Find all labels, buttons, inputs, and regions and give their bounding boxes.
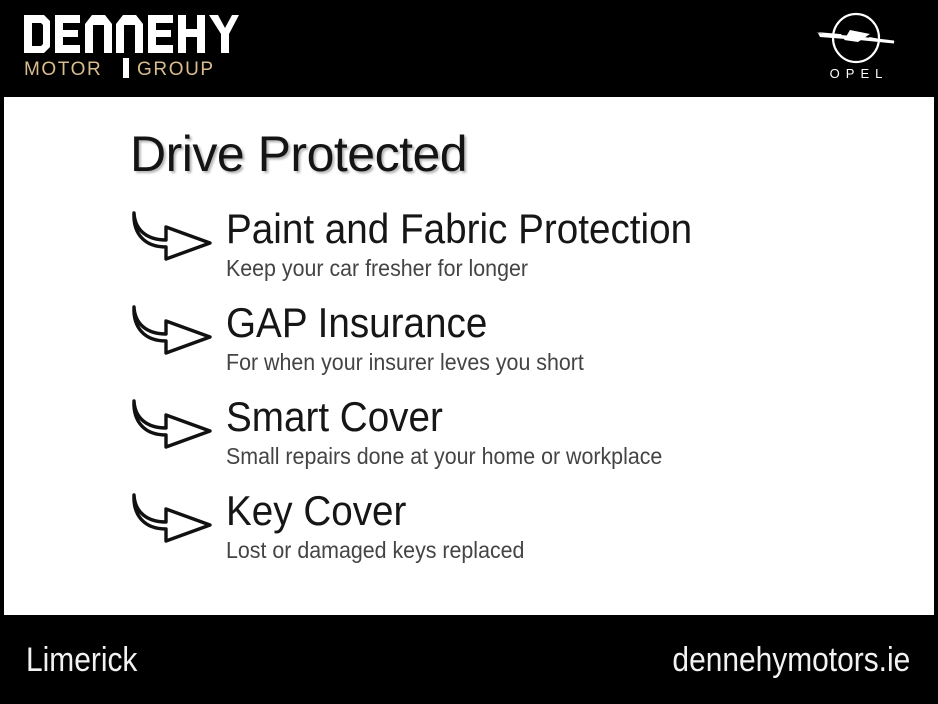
feature-subtitle: Lost or damaged keys replaced xyxy=(226,537,868,564)
motor-group-subline: MOTOR GROUP xyxy=(24,56,239,80)
feature-text-block: Key Cover Lost or damaged keys replaced xyxy=(226,487,916,564)
feature-title: Key Cover xyxy=(226,487,861,535)
feature-title: Paint and Fabric Protection xyxy=(226,205,861,253)
page-title: Drive Protected xyxy=(130,125,467,183)
feature-title: GAP Insurance xyxy=(226,299,861,347)
opel-blitz-icon xyxy=(808,12,904,64)
feature-title: Smart Cover xyxy=(226,393,861,441)
list-item: Key Cover Lost or damaged keys replaced xyxy=(130,487,920,581)
subline-motor-text: MOTOR xyxy=(24,59,102,80)
feature-list: Paint and Fabric Protection Keep your ca… xyxy=(130,205,920,581)
subline-group-text: GROUP xyxy=(137,59,215,80)
feature-subtitle: Keep your car fresher for longer xyxy=(226,255,868,282)
opel-logo: OPEL xyxy=(808,12,904,81)
list-item: Paint and Fabric Protection Keep your ca… xyxy=(130,205,920,299)
header-bar: MOTOR GROUP OPEL xyxy=(0,0,938,96)
footer-website[interactable]: dennehymotors.ie xyxy=(672,641,910,679)
subline-divider xyxy=(123,58,129,78)
curved-arrow-icon xyxy=(130,209,216,265)
curved-arrow-icon xyxy=(130,491,216,547)
content-panel: Drive Protected Paint and Fabric Protect… xyxy=(4,97,934,615)
feature-subtitle: For when your insurer leves you short xyxy=(226,349,868,376)
feature-text-block: Smart Cover Small repairs done at your h… xyxy=(226,393,916,470)
list-item: Smart Cover Small repairs done at your h… xyxy=(130,393,920,487)
opel-wordmark: OPEL xyxy=(808,66,904,81)
footer-bar: Limerick dennehymotors.ie xyxy=(0,615,938,704)
curved-arrow-icon xyxy=(130,397,216,453)
curved-arrow-icon xyxy=(130,303,216,359)
dennehy-wordmark xyxy=(24,14,239,54)
feature-text-block: Paint and Fabric Protection Keep your ca… xyxy=(226,205,916,282)
dennehy-motor-group-logo: MOTOR GROUP xyxy=(24,14,239,80)
list-item: GAP Insurance For when your insurer leve… xyxy=(130,299,920,393)
footer-location: Limerick xyxy=(26,641,137,679)
promo-poster: MOTOR GROUP OPEL Drive Protected xyxy=(0,0,938,704)
feature-subtitle: Small repairs done at your home or workp… xyxy=(226,443,868,470)
feature-text-block: GAP Insurance For when your insurer leve… xyxy=(226,299,916,376)
